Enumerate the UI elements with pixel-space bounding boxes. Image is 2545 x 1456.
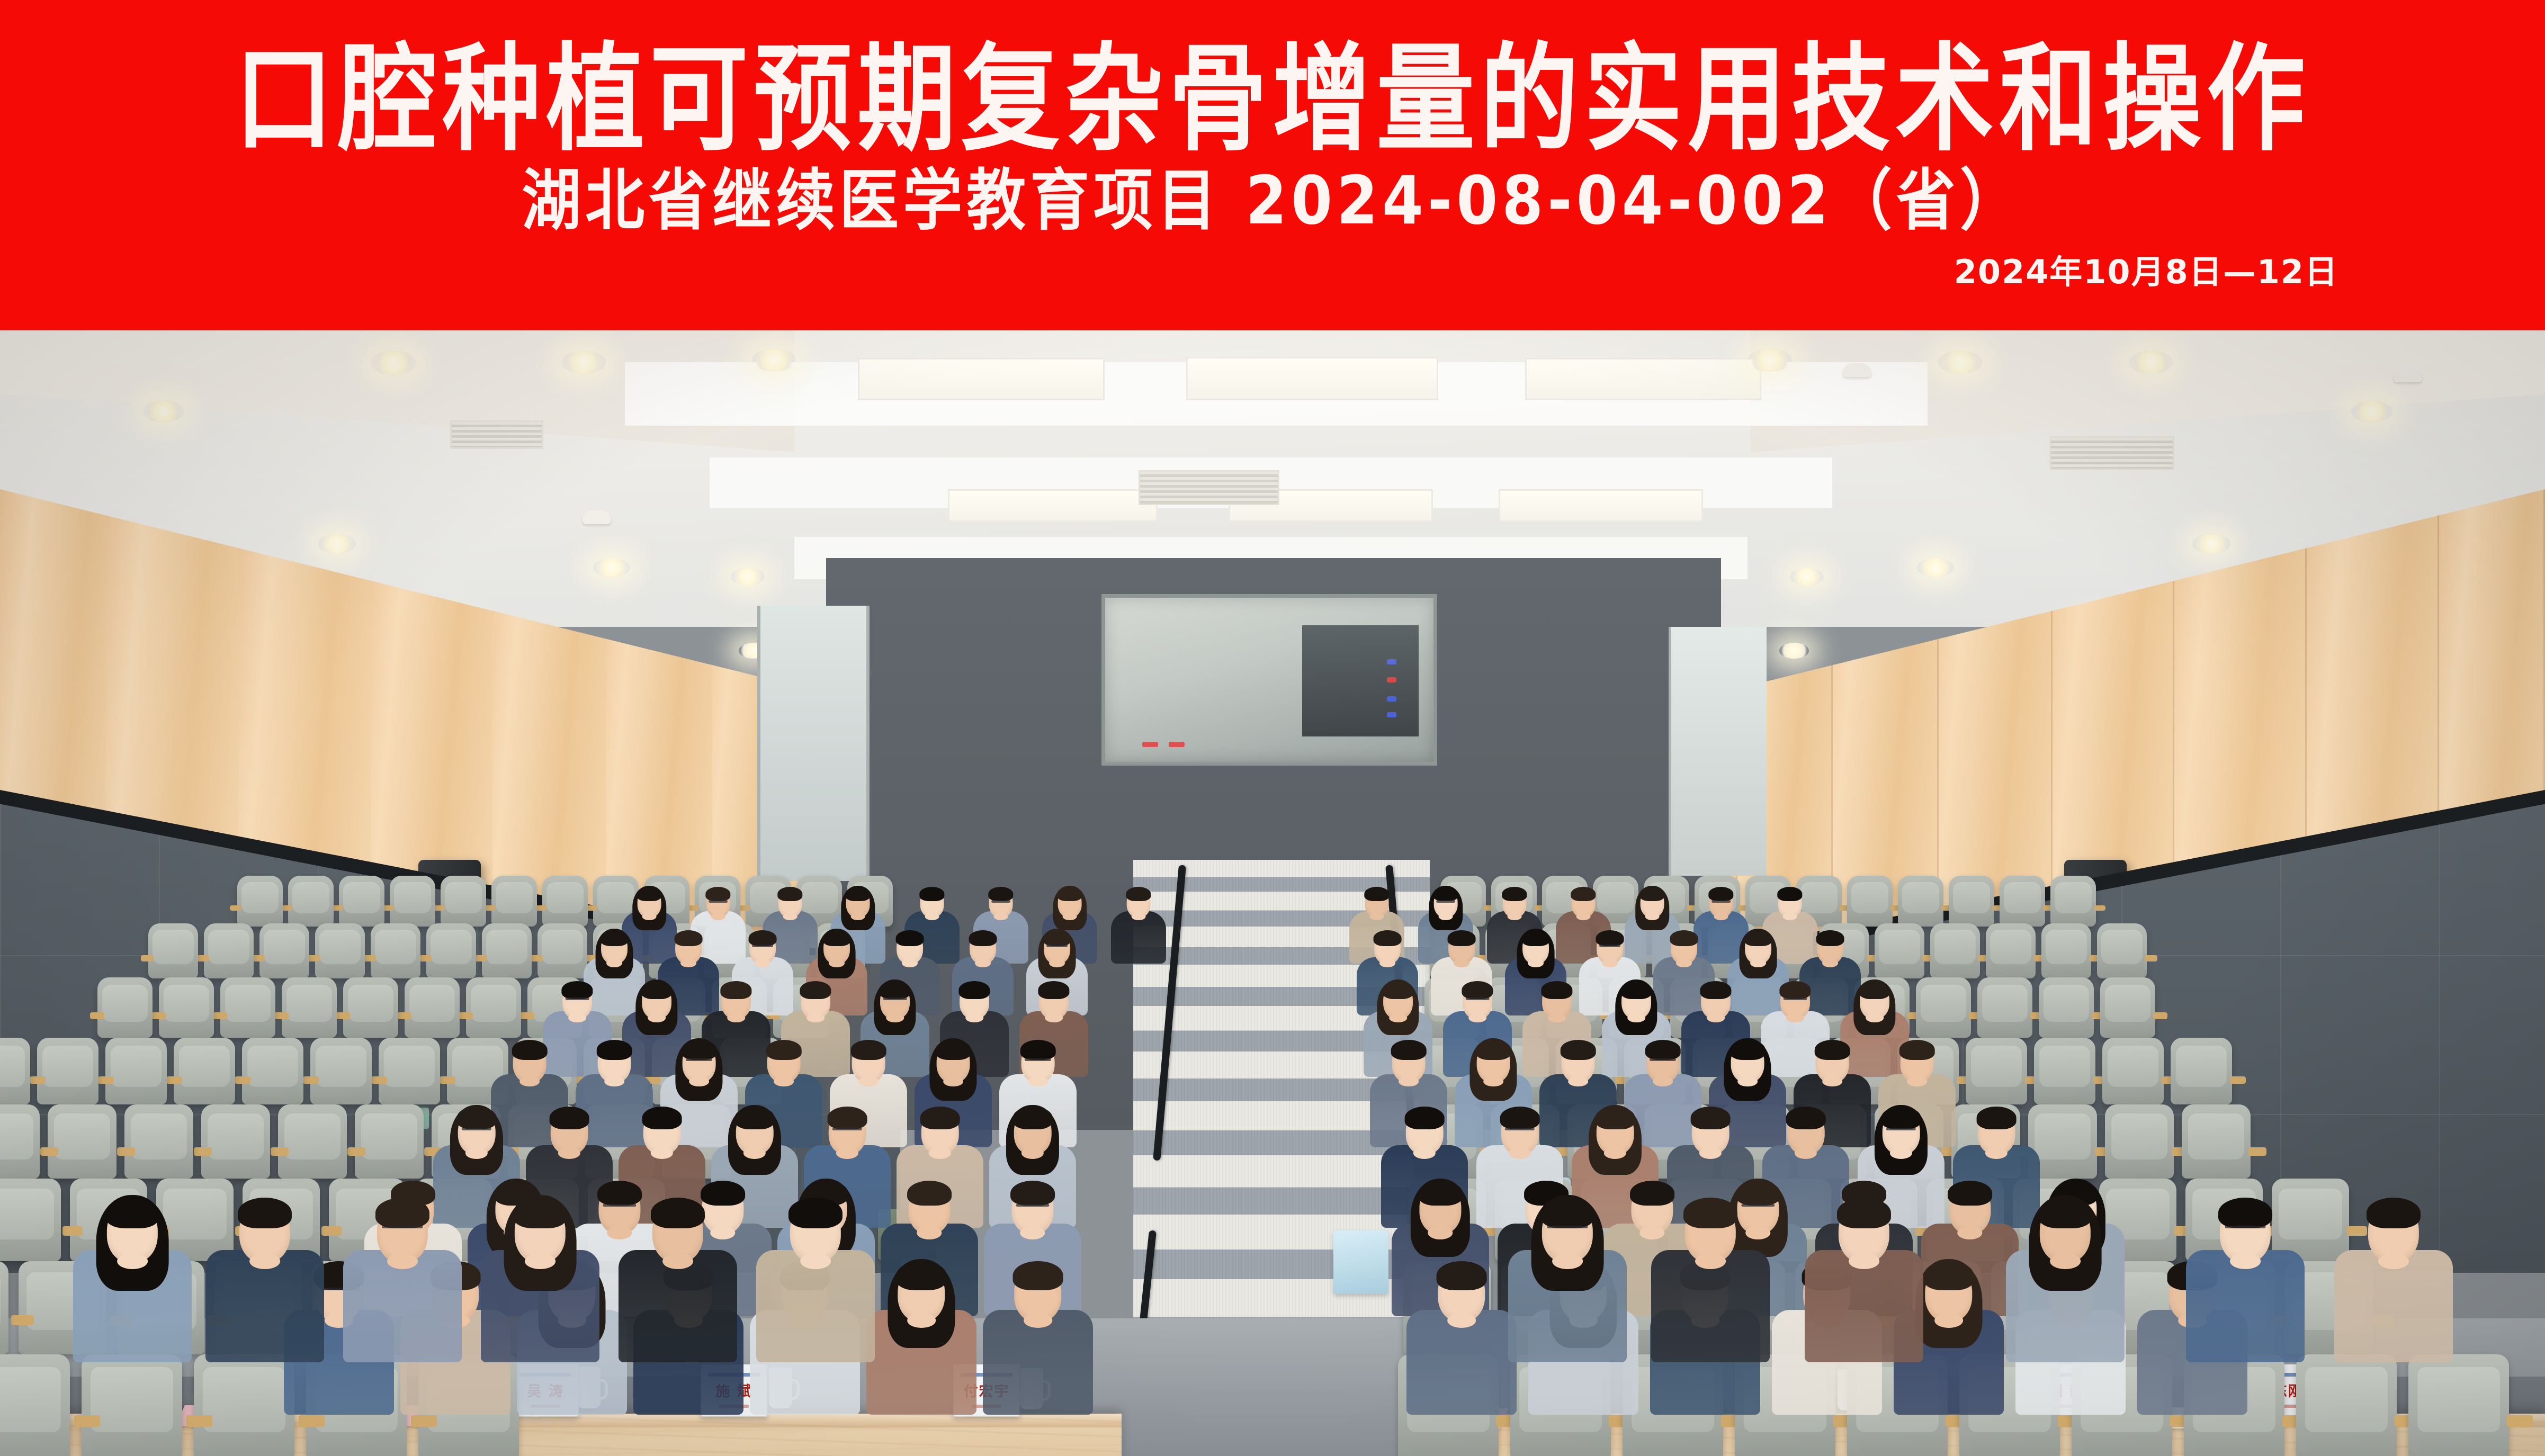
attendee-hair-top: [1540, 1198, 1594, 1228]
attendee-glasses: [1784, 997, 1807, 1000]
skylight-panel: [948, 489, 1158, 522]
attendee-collar: [1676, 959, 1692, 967]
booth-interior: [1302, 625, 1419, 736]
air-vent: [450, 420, 543, 449]
attendee-collar: [1548, 1013, 1566, 1023]
seat-armrest: [30, 1076, 46, 1084]
attendee-collar: [925, 913, 939, 920]
attendee-collar: [1695, 1253, 1726, 1269]
ceiling-light: [1790, 568, 1824, 586]
attendee-collar: [1783, 913, 1797, 920]
auditorium-seat: [2097, 923, 2147, 978]
attendee-collar: [1045, 1013, 1063, 1023]
attendee-collar: [2378, 1253, 2409, 1269]
attendee-hair-top: [735, 1107, 775, 1129]
ceiling-light: [318, 534, 356, 554]
attendee-collar: [1028, 1076, 1048, 1087]
attendee-hair-top: [958, 981, 990, 999]
auditorium-seat: [237, 876, 283, 927]
skylight-panel: [1186, 357, 1438, 400]
attendee-hair-top: [1126, 887, 1151, 901]
attendee-hair-top: [1859, 981, 1890, 999]
attendee-collar: [604, 1076, 624, 1087]
attendee: [2186, 1191, 2305, 1384]
attendee-hair-top: [1596, 1107, 1635, 1129]
attendee-hair-top: [1837, 1198, 1891, 1228]
attendee-collar: [1454, 959, 1469, 967]
auditorium-seat: [259, 923, 309, 978]
ceiling-light: [2129, 350, 2173, 374]
attendee-hair-top: [675, 930, 703, 946]
attendee-hair-top: [1779, 981, 1811, 999]
attendee-hair-top: [1433, 887, 1458, 901]
seat-armrest: [74, 1415, 100, 1427]
attendee: [756, 1191, 875, 1384]
attendee-glasses: [1025, 1058, 1051, 1061]
auditorium-seat: [278, 1104, 347, 1179]
attendee-collar: [1627, 1013, 1645, 1023]
seat-armrest: [2145, 955, 2157, 961]
attendee-collar: [917, 1226, 942, 1239]
seat-armrest: [90, 1012, 104, 1019]
attendee: [1111, 884, 1166, 974]
attendee-hair-top: [2367, 1198, 2421, 1228]
attendee-glasses: [1886, 1128, 1916, 1130]
attendee-collar: [1428, 1226, 1453, 1239]
attendee-hair-top: [651, 1198, 705, 1228]
attendee-hair-top: [800, 981, 831, 999]
attendee-hair-top: [561, 981, 593, 999]
group-photo: 吴 涛施 斌付宏宇陈 江尚政军刘 毅陈刚宇: [0, 330, 2545, 1456]
seat-armrest: [347, 1147, 365, 1155]
attendee-hair-top: [641, 981, 672, 999]
attendee-hair-top: [788, 1198, 843, 1228]
attendee-collar: [1737, 1076, 1758, 1087]
attendee-collar: [1907, 1076, 1927, 1087]
attendee: [205, 1191, 324, 1384]
tote-bag-blue: [1333, 1230, 1388, 1294]
attendee-collar: [1866, 1013, 1884, 1023]
attendee-hair-top: [1502, 887, 1527, 901]
attendee-hair-top: [919, 887, 944, 901]
attendee-glasses: [709, 900, 728, 903]
attendee-collar: [1576, 913, 1591, 920]
attendee-hair-top: [513, 1198, 567, 1228]
attendee-hair-top: [1382, 981, 1413, 999]
attendee-hair-top: [1620, 981, 1652, 999]
attendee-glasses: [1505, 1128, 1535, 1130]
attendee-glasses: [2225, 1226, 2265, 1228]
smoke-detector: [583, 510, 611, 524]
attendee-hair-top: [1977, 1107, 2017, 1129]
attendee-collar: [755, 959, 770, 967]
ceiling-light: [371, 350, 416, 375]
attendee-hair-top: [1448, 930, 1476, 946]
auditorium-seat: [343, 977, 398, 1038]
ceiling-light: [143, 400, 184, 423]
auditorium-seat: [315, 923, 365, 978]
ceiling-light: [593, 558, 630, 577]
attendee-glasses: [1436, 900, 1455, 903]
seat-armrest: [230, 905, 241, 911]
attendee-collar: [994, 913, 1008, 920]
attendee-hair-top: [879, 981, 910, 999]
attendee-glasses: [686, 1058, 712, 1061]
auditorium-seat: [220, 977, 275, 1038]
attendee-hair-top: [1815, 1040, 1850, 1060]
attendee-hair-top: [1786, 1107, 1826, 1129]
attendee-hair-top: [1708, 887, 1733, 901]
attendee-hair-top: [1013, 1107, 1053, 1129]
attendee-glasses: [883, 997, 907, 1000]
attendee-hair-top: [597, 1040, 632, 1060]
seat-armrest: [363, 955, 376, 961]
seat-armrest: [371, 1076, 387, 1084]
attendee-collar: [783, 913, 797, 920]
attendee-collar: [965, 1013, 983, 1023]
attendee-collar: [975, 959, 991, 967]
attendee-collar: [2230, 1253, 2261, 1269]
ceiling-light: [2192, 534, 2230, 554]
banner-title: 口腔种植可预期复杂骨增量的实用技术和操作: [0, 38, 2545, 160]
attendee-hair-top: [2218, 1198, 2272, 1228]
seat-armrest: [98, 1076, 114, 1084]
attendee-hair-top: [936, 1040, 971, 1060]
attendee: [73, 1191, 192, 1384]
attendee-collar: [1714, 913, 1728, 920]
attendee-collar: [902, 959, 918, 967]
skylight-panel: [1525, 358, 1761, 400]
attendee-collar: [1822, 1076, 1842, 1087]
auditorium-seat: [2039, 977, 2094, 1038]
back-door-right: [1669, 627, 1767, 876]
auditorium-seat: [2050, 876, 2096, 927]
attendee-glasses: [1547, 1226, 1588, 1228]
seat-armrest: [235, 1076, 250, 1084]
seat-armrest: [419, 955, 432, 961]
back-door-left: [757, 606, 870, 881]
auditorium-seat: [491, 876, 537, 927]
skylight-panel: [858, 358, 1105, 400]
attendee-hair-top: [1744, 930, 1772, 946]
attendee: [1406, 1256, 1517, 1435]
attendee-hair-top: [2038, 1198, 2092, 1228]
seat-armrest: [11, 1315, 34, 1325]
attendee-hair-top: [1816, 930, 1844, 946]
attendee-hair-top: [642, 1107, 682, 1129]
attendee-hair-top: [1437, 1261, 1487, 1290]
auditorium-seat: [1977, 977, 2032, 1038]
attendee-hair-top: [375, 1198, 429, 1228]
attendee-collar: [387, 1253, 418, 1269]
attendee-hair-top: [777, 887, 802, 901]
attendee-collar: [1468, 1013, 1486, 1023]
attendee-collar: [1132, 913, 1146, 920]
attendee-hair-top: [1391, 1040, 1427, 1060]
attendee-hair-top: [1057, 887, 1082, 901]
auditorium-seat: [1986, 923, 2036, 978]
attendee-collar: [711, 913, 725, 920]
booth-led-blue: [1387, 712, 1396, 717]
attendee-hair-top: [1777, 887, 1802, 901]
seat-armrest: [274, 1012, 289, 1019]
auditorium-seat: [0, 1104, 40, 1179]
attendee-collar: [2050, 1253, 2081, 1269]
attendee: [1508, 1191, 1627, 1384]
attendee-hair-top: [1038, 981, 1069, 999]
attendee-collar: [525, 1253, 555, 1269]
attendee-collar: [1528, 959, 1544, 967]
attendee-collar: [1602, 959, 1618, 967]
attendee-hair-top: [1596, 930, 1624, 946]
attendee-collar: [907, 1313, 936, 1328]
attendee: [866, 1256, 976, 1435]
attendee-collar: [1934, 1313, 1963, 1328]
attendee-collar: [1379, 959, 1395, 967]
attendee-glasses: [752, 945, 773, 947]
attendee-collar: [851, 913, 865, 920]
attendee: [1651, 1191, 1770, 1384]
ceiling-light: [1748, 348, 1792, 372]
auditorium-seat: [282, 977, 337, 1038]
auditorium-seat: [2105, 1104, 2174, 1179]
smoke-detector: [2394, 369, 2422, 382]
attendee-collar: [727, 1013, 745, 1023]
auditorium-seat: [1898, 876, 1943, 927]
auditorium-seat: [0, 1261, 8, 1354]
booth-led-red: [1387, 677, 1396, 682]
auditorium-seat: [1875, 923, 1924, 978]
auditorium-seat: [0, 1179, 61, 1261]
ceiling-light: [1917, 558, 1954, 577]
attendee-hair-top: [1899, 1040, 1935, 1060]
attendee-hair-top: [845, 887, 870, 901]
attendee-collar: [1645, 913, 1660, 920]
attendee: [481, 1191, 599, 1384]
attendee-collar: [1508, 913, 1522, 920]
seat-armrest: [196, 955, 209, 961]
seat-armrest: [321, 1226, 342, 1235]
auditorium-seat: [310, 1038, 372, 1104]
attendee-collar: [648, 1013, 666, 1023]
attendee-hair-top: [601, 930, 629, 946]
attendee-hair-top: [1670, 930, 1698, 946]
attendee-hair-top: [1020, 1040, 1056, 1060]
attendee-collar: [606, 959, 622, 967]
skylight-panel: [1499, 489, 1703, 522]
attendee-hair-top: [1700, 981, 1731, 999]
auditorium-seat: [148, 923, 198, 978]
seat-armrest: [151, 1012, 166, 1019]
auditorium-seat: [355, 1104, 424, 1179]
attendee-hair-top: [969, 930, 997, 946]
auditorium-seat: [371, 923, 420, 978]
attendee-collar: [943, 1076, 963, 1087]
attendee: [1805, 1191, 1923, 1384]
ceiling-light: [731, 568, 765, 586]
attendee-hair-top: [897, 1261, 947, 1290]
attendee-collar: [1568, 1076, 1588, 1087]
attendee-glasses: [382, 1226, 423, 1228]
attendee-collar: [1063, 913, 1077, 920]
attendee-collar: [1552, 1253, 1583, 1269]
attendee-hair-top: [1013, 1261, 1063, 1290]
attendee-hair-top: [1476, 1040, 1511, 1060]
auditorium-seat: [1930, 923, 1980, 978]
attendee-hair-top: [550, 1107, 589, 1129]
attendee-collar: [1389, 1013, 1407, 1023]
auditorium-seat: [390, 876, 435, 927]
auditorium-seat: [1949, 876, 1994, 927]
auditorium-seat: [288, 876, 334, 927]
booth-led-red: [1169, 742, 1185, 747]
seat-armrest: [2094, 905, 2105, 911]
auditorium-seat: [37, 1038, 98, 1104]
auditorium-seat: [204, 923, 254, 978]
attendee-glasses: [832, 1128, 862, 1130]
auditorium-seat: [339, 876, 384, 927]
auditorium-seat: [2102, 1038, 2164, 1104]
seat-armrest: [474, 955, 487, 961]
attendee-hair-top: [637, 887, 661, 901]
auditorium-seat: [537, 923, 587, 978]
auditorium-seat: [124, 1104, 193, 1179]
seat-armrest: [336, 1012, 350, 1019]
banner-date: 2024年10月8日—12日: [1954, 254, 2338, 290]
auditorium-seat: [1916, 977, 1971, 1038]
attendee-collar: [829, 959, 845, 967]
attendee-hair-top: [1639, 887, 1664, 901]
booth-led-blue: [1387, 659, 1396, 664]
seat-armrest: [397, 1012, 411, 1019]
auditorium-seat: [0, 1038, 30, 1104]
seat-armrest: [166, 1076, 182, 1084]
attendee-hair-top: [682, 1040, 717, 1060]
auditorium-seat: [1847, 876, 1893, 927]
attendee-hair-top: [1522, 930, 1550, 946]
attendee-hair-top: [920, 1107, 960, 1129]
red-banner-header: 口腔种植可预期复杂骨增量的实用技术和操作 湖北省继续医学教育项目 2024-08…: [0, 0, 2545, 330]
seat-armrest: [213, 1012, 227, 1019]
auditorium-seat: [2182, 1104, 2251, 1179]
attendee-glasses: [1016, 1204, 1049, 1207]
seat-armrest: [40, 1147, 58, 1155]
attendee-collar: [1399, 1076, 1419, 1087]
booth-led-blue: [1387, 696, 1396, 702]
attendee-collar: [774, 1076, 794, 1087]
attendee-hair-top: [1571, 887, 1596, 901]
attendee-hair-top: [1683, 1198, 1737, 1228]
auditorium-seat: [405, 977, 460, 1038]
seat-armrest: [271, 1147, 289, 1155]
attendee-hair-top: [1010, 1181, 1055, 1206]
auditorium-seat: [2041, 923, 2091, 978]
attendee-collar: [1370, 913, 1384, 920]
attendee-glasses: [1046, 945, 1068, 947]
attendee-glasses: [566, 997, 589, 1000]
seat-armrest: [530, 955, 543, 961]
attendee-collar: [1786, 1013, 1804, 1023]
auditorium-seat: [97, 977, 153, 1038]
seat-armrest: [520, 1012, 534, 1019]
attendee-hair-top: [105, 1198, 159, 1228]
seat-armrest: [194, 1147, 212, 1155]
attendee-hair-top: [1043, 930, 1071, 946]
auditorium-seat: [159, 977, 214, 1038]
auditorium-seat: [201, 1104, 270, 1179]
attendee-collar: [1024, 1313, 1052, 1328]
attendee: [343, 1191, 462, 1384]
attendee-hair-top: [907, 1181, 952, 1206]
auditorium-seat: [242, 1038, 303, 1104]
attendee-collar: [886, 1013, 904, 1023]
auditorium-seat: [1966, 1038, 2027, 1104]
smoke-detector: [1843, 363, 1871, 377]
seat-armrest: [440, 1076, 455, 1084]
attendee-hair-top: [1462, 981, 1493, 999]
ceiling-light: [2351, 400, 2392, 423]
seat-armrest: [2248, 1147, 2266, 1155]
attendee-collar: [117, 1253, 148, 1269]
attendee-collar: [1020, 1226, 1045, 1239]
attendee-hair-top: [238, 1198, 292, 1228]
seat-armrest: [2507, 1415, 2533, 1427]
attendee-hair-top: [1364, 887, 1389, 901]
attendee-hair-top: [457, 1107, 497, 1129]
attendee-collar: [642, 913, 657, 920]
attendee-collar: [689, 1076, 709, 1087]
auditorium-seat: [542, 876, 588, 927]
attendee-hair-top: [1691, 1107, 1731, 1129]
attendee-collar: [680, 959, 696, 967]
poster-root: 口腔种植可预期复杂骨增量的实用技术和操作 湖北省继续医学教育项目 2024-08…: [0, 0, 2545, 1456]
seat-armrest: [186, 1415, 212, 1427]
attendee-hair-top: [896, 930, 924, 946]
attendee-hair-top: [1730, 1040, 1766, 1060]
air-vent: [2049, 436, 2174, 470]
auditorium-seat: [48, 1104, 117, 1179]
attendee-hair-top: [851, 1040, 886, 1060]
attendee-hair-top: [828, 1107, 867, 1129]
attendee-hair-top: [1561, 1040, 1596, 1060]
seat-armrest: [252, 955, 265, 961]
banner-subtitle: 湖北省继续医学教育项目 2024-08-04-002（省）: [0, 164, 2545, 238]
attendee-collar: [1957, 1226, 1982, 1239]
attendee-collar: [249, 1253, 280, 1269]
auditorium-seat: [426, 923, 476, 978]
attendee-collar: [1439, 913, 1453, 920]
attendee-hair-top: [1645, 1040, 1681, 1060]
booth-led-red: [1142, 742, 1158, 747]
attendee: [983, 1256, 1093, 1435]
attendee: [2334, 1191, 2453, 1384]
attendee-collar: [1653, 1076, 1673, 1087]
attendee-hair-top: [1881, 1107, 1921, 1129]
attendee-hair-top: [1924, 1261, 1974, 1290]
auditorium-seat: [2034, 1038, 2095, 1104]
seat-armrest: [117, 1147, 135, 1155]
attendee-hair-top: [766, 1040, 802, 1060]
attendee-collar: [1447, 1313, 1476, 1328]
attendee-hair-top: [988, 887, 1013, 901]
auditorium-seat: [379, 1038, 440, 1104]
attendee-glasses: [1650, 1058, 1676, 1061]
ceiling-light: [1779, 643, 1809, 659]
seat-armrest: [303, 1076, 319, 1084]
attendee-collar: [1483, 1076, 1503, 1087]
auditorium-seat: [0, 1354, 70, 1456]
attendee-collar: [519, 1076, 540, 1087]
